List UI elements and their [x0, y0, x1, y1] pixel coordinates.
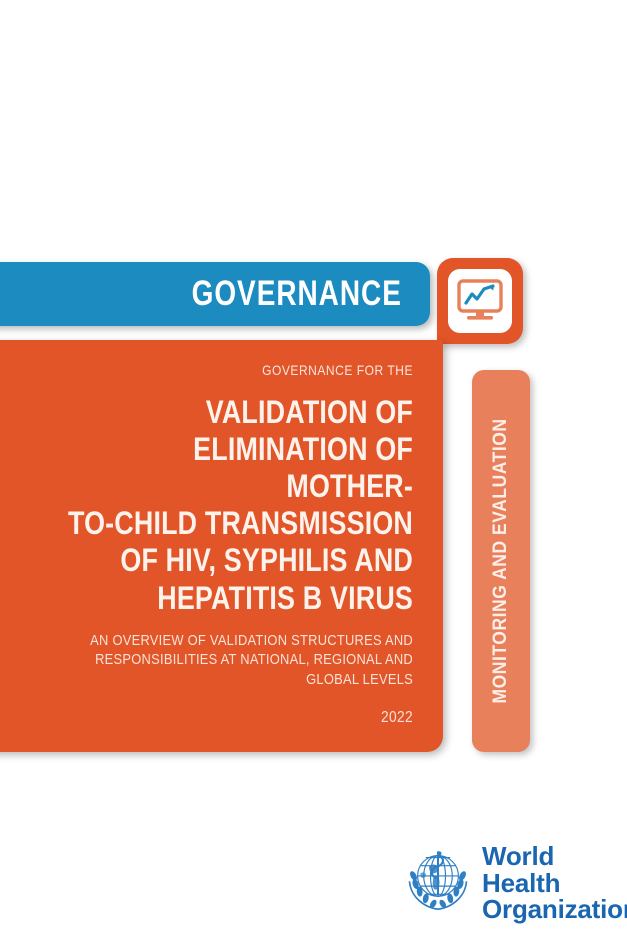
title-line: OF HIV, SYPHILIS AND — [120, 542, 413, 578]
title-line: HEPATITIS B VIRUS — [157, 580, 413, 616]
title-panel: GOVERNANCE FOR THE VALIDATION OF ELIMINA… — [0, 340, 443, 752]
subtitle-line: GLOBAL LEVELS — [306, 671, 413, 688]
title-line: VALIDATION OF — [206, 394, 413, 430]
icon-plate — [448, 269, 512, 333]
governance-banner: GOVERNANCE — [0, 262, 430, 326]
document-cover: GOVERNANCE GOVERNANCE FOR THE VALIDATION… — [0, 0, 627, 940]
monitor-chart-icon-badge — [437, 258, 523, 344]
who-emblem — [404, 846, 472, 919]
subtitle-line: AN OVERVIEW OF VALIDATION STRUCTURES AND — [90, 632, 413, 649]
title-line: TO-CHILD TRANSMISSION — [68, 505, 413, 541]
eyebrow-text: GOVERNANCE FOR THE — [58, 362, 413, 378]
governance-banner-label: GOVERNANCE — [192, 274, 402, 314]
who-emblem-icon — [404, 846, 472, 914]
title-line: ELIMINATION OF MOTHER- — [193, 431, 413, 504]
side-tab-label: MONITORING AND EVALUATION — [490, 418, 512, 703]
who-wordmark-line2: Organization — [482, 896, 627, 923]
subtitle-line: RESPONSIBILITIES AT NATIONAL, REGIONAL A… — [95, 651, 413, 668]
monitor-chart-icon — [455, 276, 505, 326]
who-logo: World Health Organization — [404, 843, 627, 923]
subtitle-text: AN OVERVIEW OF VALIDATION STRUCTURES AND… — [58, 631, 413, 690]
page-title: VALIDATION OF ELIMINATION OF MOTHER- TO-… — [66, 394, 413, 617]
side-tab-monitoring-and-evaluation: MONITORING AND EVALUATION — [472, 370, 530, 752]
who-wordmark-line1: World Health — [482, 843, 627, 896]
who-wordmark: World Health Organization — [482, 843, 627, 923]
publication-year: 2022 — [58, 709, 413, 727]
